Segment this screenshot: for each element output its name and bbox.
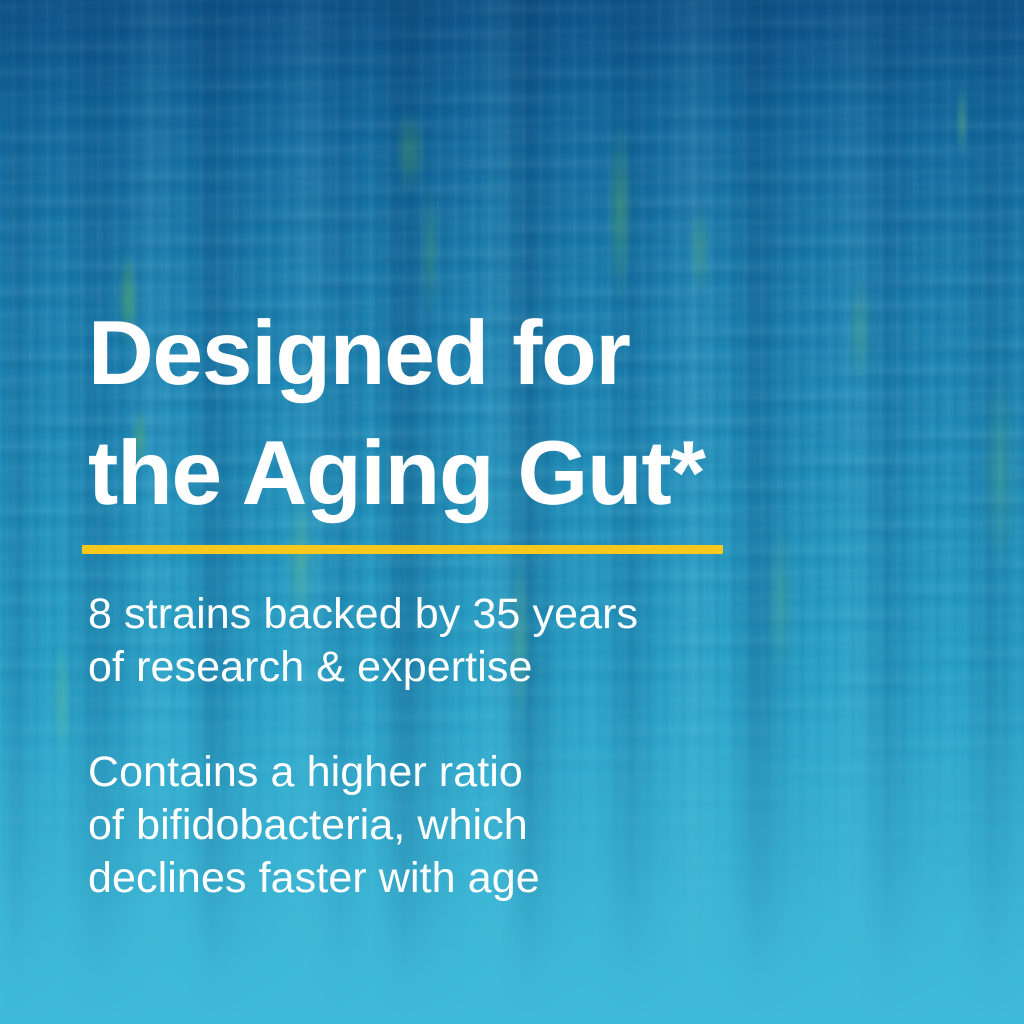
content-column: Designed for the Aging Gut* 8 strains ba… <box>88 0 948 1024</box>
page-title: Designed for the Aging Gut* <box>88 294 705 534</box>
benefit-item-bifidobacteria: Contains a higher ratio of bifidobacteri… <box>88 746 788 905</box>
benefit-item-strains: 8 strains backed by 35 years of research… <box>88 588 788 694</box>
accent-divider <box>82 545 723 554</box>
benefit-list: 8 strains backed by 35 years of research… <box>88 588 788 905</box>
product-callout-graphic: Designed for the Aging Gut* 8 strains ba… <box>0 0 1024 1024</box>
